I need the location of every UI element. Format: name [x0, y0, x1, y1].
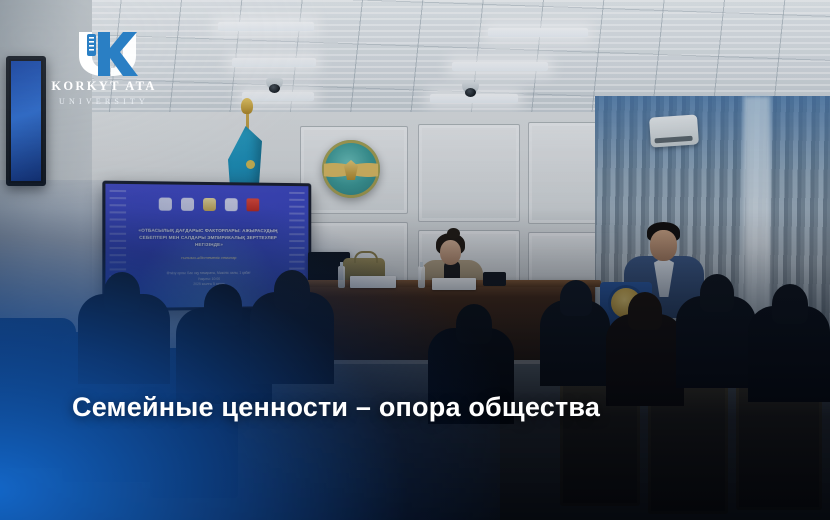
photo-blue-glow-overlay — [0, 180, 500, 520]
logo-text-primary: KORKYT ATA — [38, 79, 170, 94]
korkyt-ata-university-logo: KORKYT ATA UNIVERSITY — [38, 30, 170, 110]
logo-shield-k-icon — [65, 30, 143, 76]
image-caption: Семейные ценности – опора общества — [72, 392, 600, 423]
hero-image: «ОТБАСЫЛЫҚ ДАҒДАРЫС ФАКТОРЛАРЫ: АЖЫРАСУД… — [0, 0, 830, 520]
logo-text-secondary: UNIVERSITY — [38, 97, 170, 106]
logo-mark — [65, 30, 143, 76]
